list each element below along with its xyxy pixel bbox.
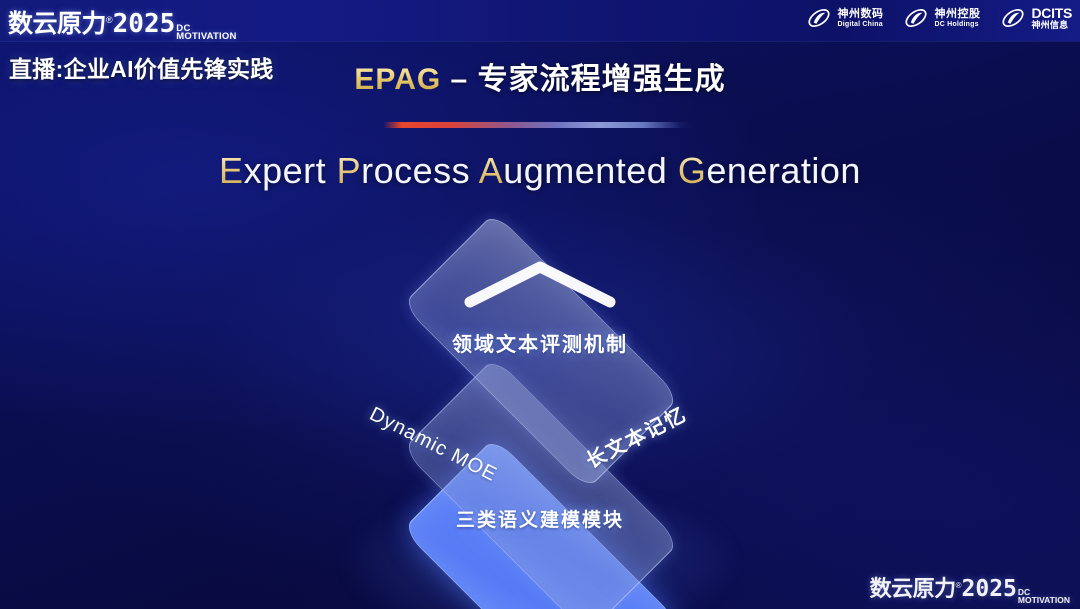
subtitle-seg-0: E — [219, 150, 244, 191]
partner-logo-dcits: DCITS 神州信息 — [1000, 5, 1072, 31]
partner-logo-text: 神州控股 DC Holdings — [934, 9, 980, 28]
subtitle-seg-4: A — [479, 150, 504, 191]
partner-name-cn: 神州控股 — [934, 9, 980, 20]
presentation-slide: 数云原力®2025DCMOTIVATION 神州数码 Digital China — [0, 0, 1080, 609]
watermark-year: 2025 — [962, 576, 1017, 602]
partner-logo-text: 神州数码 Digital China — [837, 9, 883, 28]
subtitle-seg-5: ugmented — [503, 150, 678, 191]
layer-label-top: 领域文本评测机制 — [290, 328, 790, 357]
subtitle-seg-7: eneration — [706, 150, 861, 191]
watermark-dc-motivation: DCMOTIVATION — [1018, 589, 1070, 604]
partner-name-en: 神州信息 — [1031, 21, 1072, 30]
slide-title-accent: EPAG — [354, 63, 441, 96]
subtitle-seg-3: rocess — [361, 150, 479, 191]
slide-subtitle: Expert Process Augmented Generation — [0, 150, 1080, 192]
brand-dc-motivation: DCMOTIVATION — [176, 25, 236, 42]
partner-logo-text: DCITS 神州信息 — [1031, 6, 1072, 30]
partner-name-en: DC Holdings — [934, 21, 980, 28]
partner-name-cn: 神州数码 — [837, 9, 883, 20]
layer-label-bottom: 三类语义建模模块 — [290, 505, 790, 532]
subtitle-seg-2: P — [337, 150, 362, 191]
brand-motivation-line: MOTIVATION — [176, 33, 236, 41]
brand-registered-mark: ® — [106, 15, 113, 25]
event-brand-logo: 数云原力®2025DCMOTIVATION — [8, 4, 237, 43]
brand-name-cn: 数云原力 — [8, 4, 106, 40]
title-divider — [383, 122, 693, 128]
partner-name-en: Digital China — [837, 21, 883, 28]
layered-architecture-diagram: 领域文本评测机制 Dynamic MOE 长文本记忆 三类语义建模模块 — [290, 220, 790, 590]
brand-year: 2025 — [113, 9, 176, 39]
watermark-name-cn: 数云原力 — [870, 571, 956, 603]
watermark-registered-mark: ® — [956, 581, 962, 590]
subtitle-seg-6: G — [678, 150, 707, 191]
watermark-motivation-line: MOTIVATION — [1018, 597, 1070, 604]
corner-watermark: 数云原力®2025DCMOTIVATION — [870, 571, 1070, 605]
swirl-logo-icon — [903, 5, 929, 31]
slide-title: EPAG – 专家流程增强生成 — [0, 54, 1080, 98]
chevron-up-icon — [462, 258, 618, 310]
top-header-bar: 数云原力®2025DCMOTIVATION 神州数码 Digital China — [0, 0, 1080, 41]
partner-logo-row: 神州数码 Digital China 神州控股 DC Holdings — [806, 5, 1072, 31]
slide-title-rest: – 专家流程增强生成 — [451, 63, 726, 96]
swirl-logo-icon — [806, 5, 832, 31]
swirl-logo-icon — [1000, 5, 1026, 31]
partner-logo-digital-china: 神州数码 Digital China — [806, 5, 883, 31]
partner-name-cn: DCITS — [1031, 6, 1072, 20]
partner-logo-dc-holdings: 神州控股 DC Holdings — [903, 5, 980, 31]
subtitle-seg-1: xpert — [244, 150, 337, 191]
